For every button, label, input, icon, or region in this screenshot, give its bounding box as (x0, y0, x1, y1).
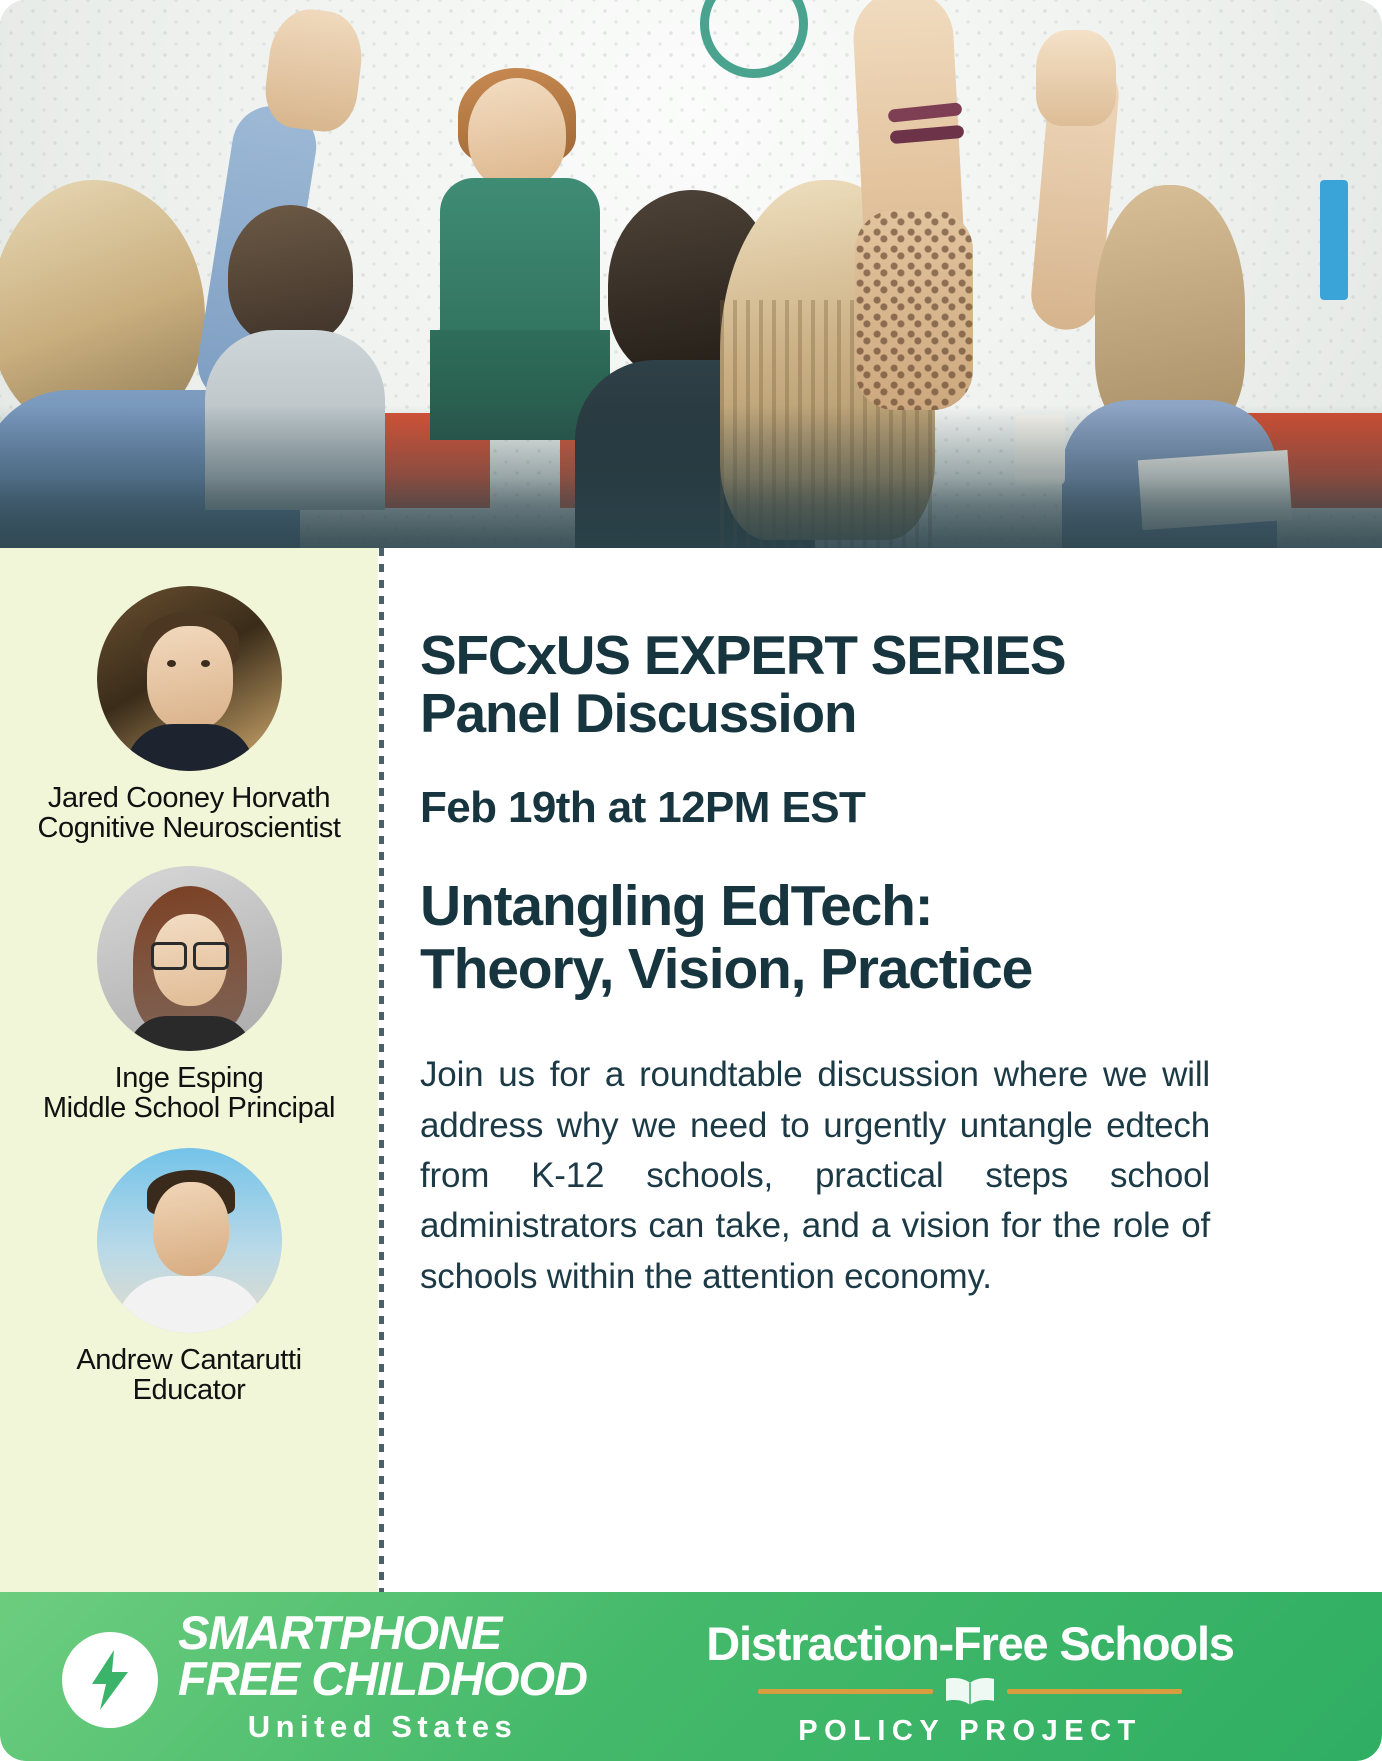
photo-gradient-overlay (0, 0, 1382, 548)
sfc-line-3: United States (178, 1709, 587, 1745)
speaker-card: Jared Cooney Horvath Cognitive Neuroscie… (0, 586, 378, 843)
event-datetime: Feb 19th at 12PM EST (420, 783, 1230, 833)
footer-logos: SMARTPHONE FREE CHILDHOOD United States … (0, 1592, 1382, 1761)
eyeglasses-icon (151, 942, 229, 964)
speaker-card: Andrew Cantarutti Educator (0, 1148, 378, 1405)
speaker-name: Inge Esping (0, 1064, 378, 1094)
rule-right (1007, 1689, 1182, 1694)
speaker-role: Educator (0, 1376, 378, 1406)
speaker-role: Middle School Principal (0, 1094, 378, 1124)
lightning-bolt-icon (90, 1650, 130, 1710)
open-book-icon (942, 1676, 998, 1706)
avatar (97, 1148, 282, 1333)
event-details: SFCxUS EXPERT SERIES Panel Discussion Fe… (420, 548, 1230, 1302)
kicker-line-1: SFCxUS EXPERT SERIES (420, 626, 1230, 684)
logo-circle (62, 1632, 158, 1728)
dfs-subtitle: POLICY PROJECT (700, 1715, 1240, 1748)
sfc-line-2: FREE CHILDHOOD (178, 1656, 587, 1702)
speaker-role: Cognitive Neuroscientist (0, 814, 378, 844)
dfs-rule (700, 1676, 1240, 1706)
title-line-1: Untangling EdTech: (420, 875, 1230, 939)
event-title: Untangling EdTech: Theory, Vision, Pract… (420, 875, 1230, 1003)
main-body: Jared Cooney Horvath Cognitive Neuroscie… (0, 548, 1382, 1592)
smartphone-free-childhood-logo: SMARTPHONE FREE CHILDHOOD United States (62, 1610, 587, 1745)
dfs-title: Distraction-Free Schools (700, 1620, 1240, 1667)
speaker-card: Inge Esping Middle School Principal (0, 866, 378, 1123)
rule-left (758, 1689, 933, 1694)
event-kicker: SFCxUS EXPERT SERIES Panel Discussion (420, 626, 1230, 743)
kicker-line-2: Panel Discussion (420, 684, 1230, 742)
event-flyer: Jared Cooney Horvath Cognitive Neuroscie… (0, 0, 1382, 1761)
hero-photo (0, 0, 1382, 548)
avatar (97, 866, 282, 1051)
event-description: Join us for a roundtable discussion wher… (420, 1050, 1210, 1302)
distraction-free-schools-logo: Distraction-Free Schools POLICY PROJECT (700, 1620, 1240, 1748)
speaker-name: Andrew Cantarutti (0, 1346, 378, 1376)
speakers-sidebar: Jared Cooney Horvath Cognitive Neuroscie… (0, 548, 378, 1592)
sfc-line-1: SMARTPHONE (178, 1610, 587, 1656)
avatar (97, 586, 282, 771)
title-line-2: Theory, Vision, Practice (420, 938, 1230, 1002)
vertical-dotted-divider (379, 548, 384, 1592)
speaker-name: Jared Cooney Horvath (0, 784, 378, 814)
